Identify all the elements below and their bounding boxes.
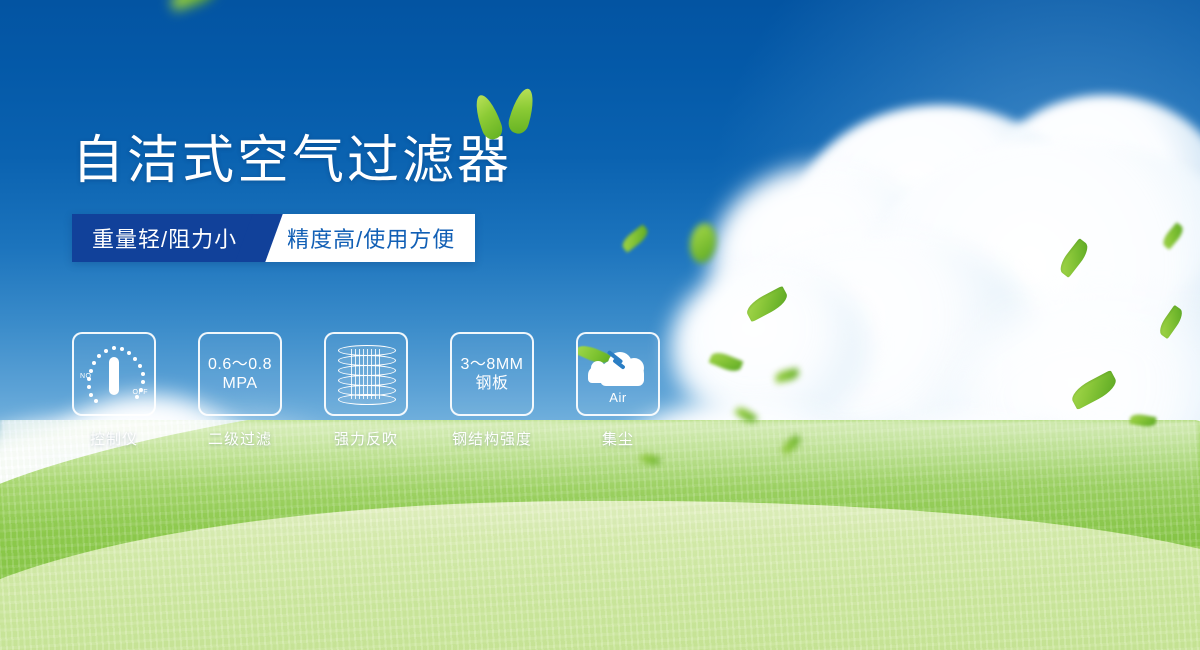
- gauge-needle: [109, 357, 119, 395]
- sprout-leaf-left: [471, 92, 506, 142]
- feature-icon-box: [324, 332, 408, 416]
- feature-icon-box: NO OFF: [72, 332, 156, 416]
- air-cloud-icon: Air: [586, 346, 650, 402]
- stacked-filter-discs-icon: [338, 345, 394, 403]
- air-label: Air: [586, 390, 650, 405]
- subtitle-left: 重量轻/阻力小: [72, 214, 259, 262]
- feature-label: 强力反吹: [324, 428, 408, 449]
- subtitle-right: 精度高/使用方便: [259, 214, 475, 262]
- page-title: 自洁式空气过滤器: [72, 132, 772, 190]
- gauge-dial-icon: NO OFF: [80, 343, 148, 405]
- sprout-leaves-icon: [472, 86, 542, 142]
- pressure-unit: MPA: [208, 374, 272, 393]
- feature-label: 集尘: [576, 428, 660, 449]
- feature-item-controller[interactable]: NO OFF 控制仪: [72, 332, 156, 449]
- steel-plate-text-icon: 3～8MM 钢板: [461, 355, 524, 393]
- sprout-leaf-right: [506, 86, 538, 136]
- subtitle-bar: 重量轻/阻力小 精度高/使用方便: [72, 214, 475, 262]
- feature-label: 二级过滤: [198, 428, 282, 449]
- feature-item-two-stage-filtration[interactable]: 0.6～0.8 MPA 二级过滤: [198, 332, 282, 449]
- title-wrap: 自洁式空气过滤器: [72, 132, 772, 190]
- steel-material: 钢板: [461, 374, 524, 393]
- gauge-label-no: NO: [80, 373, 92, 380]
- pressure-range: 0.6～0.8: [208, 355, 272, 374]
- grass-field: [0, 420, 1200, 650]
- cloud-small-bump: [591, 361, 605, 375]
- feature-icon-box: 3～8MM 钢板: [450, 332, 534, 416]
- gauge-label-off: OFF: [133, 389, 149, 396]
- cloud-bump: [624, 358, 644, 378]
- product-hero-banner: 自洁式空气过滤器 重量轻/阻力小 精度高/使用方便: [0, 0, 1200, 650]
- feature-label: 钢结构强度: [450, 428, 534, 449]
- pressure-text-icon: 0.6～0.8 MPA: [208, 355, 272, 393]
- feature-item-dust-collection[interactable]: Air 集尘: [576, 332, 660, 449]
- steel-thickness: 3～8MM: [461, 355, 524, 374]
- feature-icon-box: Air: [576, 332, 660, 416]
- feature-item-steel-strength[interactable]: 3～8MM 钢板 钢结构强度: [450, 332, 534, 449]
- feature-label: 控制仪: [72, 428, 156, 449]
- feature-icon-box: 0.6～0.8 MPA: [198, 332, 282, 416]
- banner-content: 自洁式空气过滤器 重量轻/阻力小 精度高/使用方便: [72, 132, 772, 262]
- feature-item-strong-backflush[interactable]: 强力反吹: [324, 332, 408, 449]
- feature-list: NO OFF 控制仪 0.6～0.8 MPA 二级过滤: [72, 332, 660, 449]
